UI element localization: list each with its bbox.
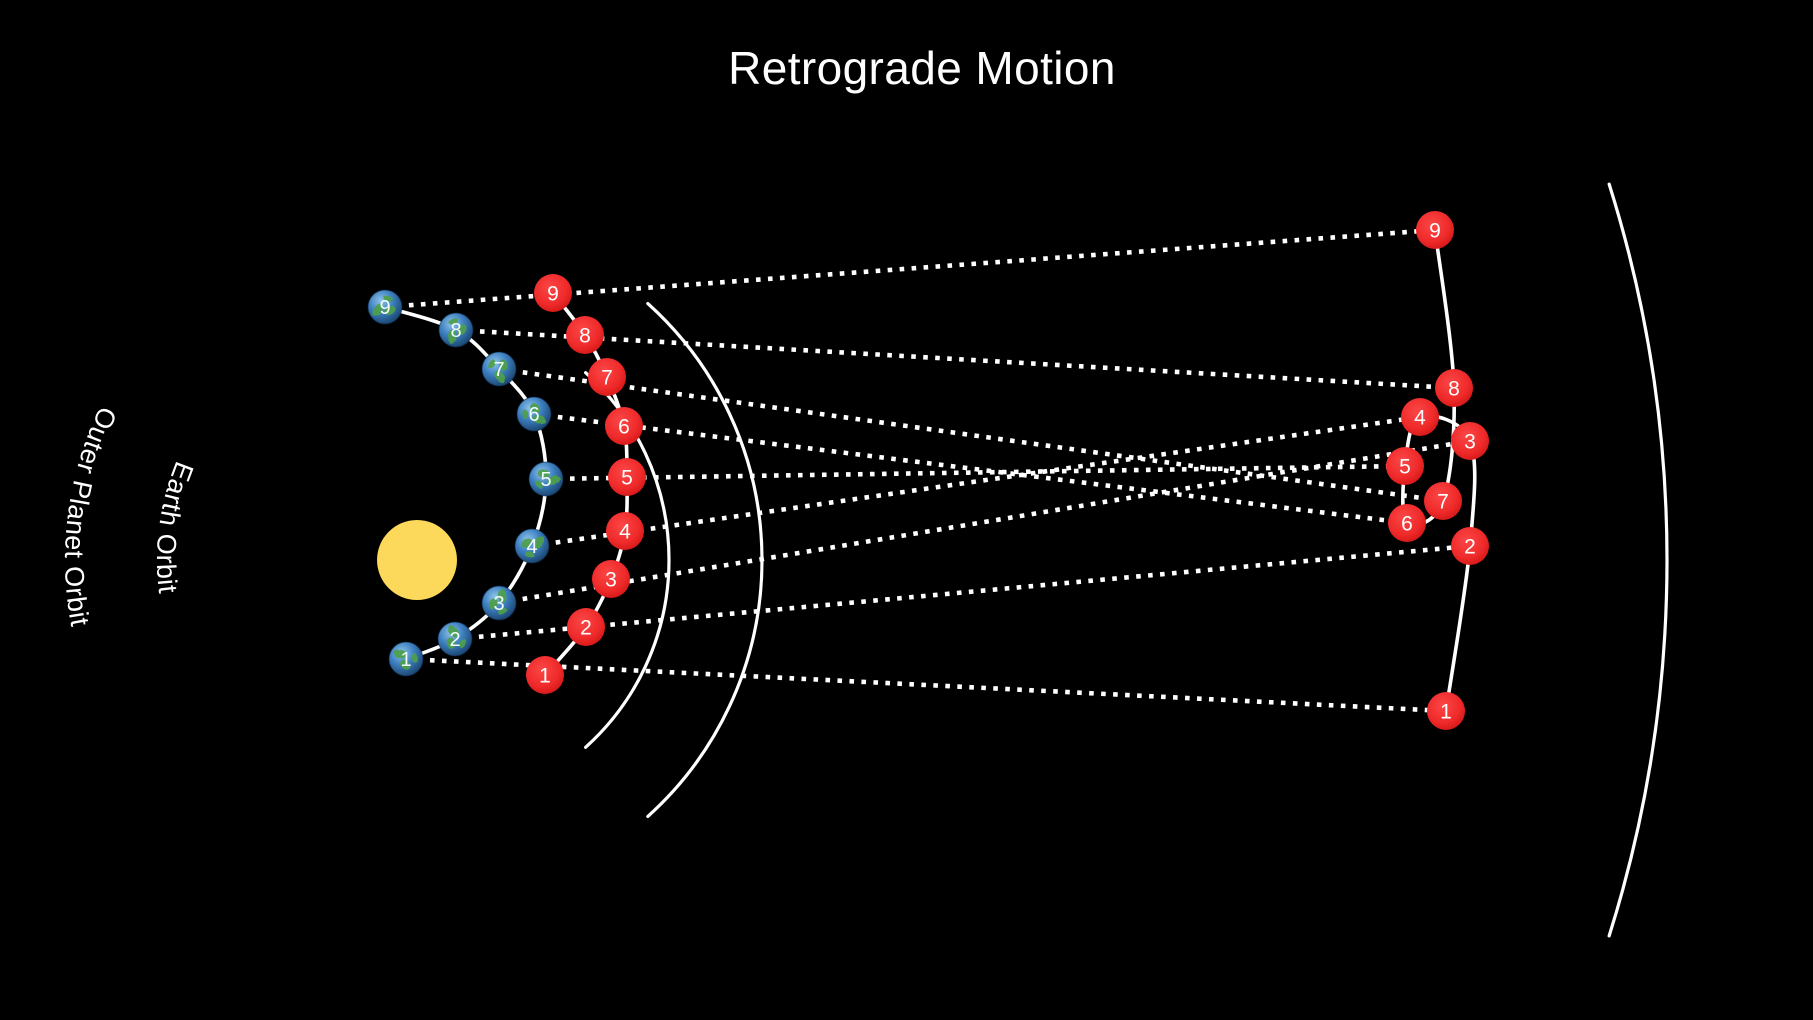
apparent-marker-9: 9: [1416, 211, 1454, 249]
apparent-marker-5: 5: [1386, 447, 1424, 485]
earth-marker-label: 2: [449, 629, 460, 651]
planet-marker-label: 9: [547, 283, 559, 306]
earth-marker-label: 8: [450, 320, 461, 342]
apparent-marker-label: 7: [1437, 491, 1449, 514]
planet-marker-1: 1: [526, 656, 564, 694]
earth-marker-8: 8: [439, 313, 473, 347]
apparent-marker-label: 8: [1448, 378, 1460, 401]
planet-marker-6: 6: [605, 407, 643, 445]
earth-marker-label: 9: [379, 297, 390, 319]
apparent-marker-label: 9: [1429, 220, 1441, 243]
planet-marker-9: 9: [534, 274, 572, 312]
planet-marker-7: 7: [588, 358, 626, 396]
planet-marker-label: 3: [605, 569, 617, 592]
earth-marker-7: 7: [482, 352, 516, 386]
earth-marker-5: 5: [529, 462, 563, 496]
planet-marker-label: 8: [579, 325, 591, 348]
planet-marker-3: 3: [592, 560, 630, 598]
earth-marker-2: 2: [438, 622, 472, 656]
earth-marker-label: 6: [528, 404, 539, 426]
earth-marker-1: 1: [389, 642, 423, 676]
apparent-marker-label: 3: [1464, 431, 1476, 454]
retrograde-motion-svg: Retrograde Motion Outer Planet OrbitEart…: [0, 0, 1813, 1020]
apparent-marker-label: 2: [1464, 536, 1476, 559]
apparent-marker-label: 1: [1440, 701, 1452, 724]
earth-marker-6: 6: [517, 397, 551, 431]
apparent-marker-label: 4: [1414, 407, 1426, 430]
planet-marker-label: 5: [621, 467, 633, 490]
page-title: Retrograde Motion: [728, 42, 1116, 94]
apparent-marker-4: 4: [1401, 398, 1439, 436]
apparent-marker-label: 5: [1399, 456, 1411, 479]
earth-marker-label: 5: [540, 469, 551, 491]
apparent-marker-2: 2: [1451, 527, 1489, 565]
planet-marker-label: 6: [618, 416, 630, 439]
diagram-canvas: Retrograde Motion Outer Planet OrbitEart…: [0, 0, 1813, 1020]
apparent-marker-6: 6: [1388, 504, 1426, 542]
apparent-marker-8: 8: [1435, 369, 1473, 407]
earth-marker-4: 4: [515, 529, 549, 563]
apparent-marker-label: 6: [1401, 513, 1413, 536]
earth-marker-3: 3: [482, 586, 516, 620]
planet-marker-8: 8: [566, 316, 604, 354]
apparent-marker-3: 3: [1451, 422, 1489, 460]
planet-marker-5: 5: [608, 458, 646, 496]
earth-marker-label: 4: [526, 536, 537, 558]
sun: [377, 520, 457, 600]
planet-marker-2: 2: [567, 608, 605, 646]
background: [0, 0, 1813, 1020]
earth-marker-9: 9: [368, 290, 402, 324]
planet-marker-label: 4: [619, 521, 631, 544]
earth-marker-label: 3: [493, 593, 504, 615]
planet-marker-label: 2: [580, 617, 592, 640]
earth-marker-label: 7: [493, 359, 504, 381]
planet-marker-label: 7: [601, 367, 613, 390]
planet-marker-4: 4: [606, 512, 644, 550]
apparent-marker-7: 7: [1424, 482, 1462, 520]
earth-marker-label: 1: [400, 649, 411, 671]
apparent-marker-1: 1: [1427, 692, 1465, 730]
planet-marker-label: 1: [539, 665, 551, 688]
